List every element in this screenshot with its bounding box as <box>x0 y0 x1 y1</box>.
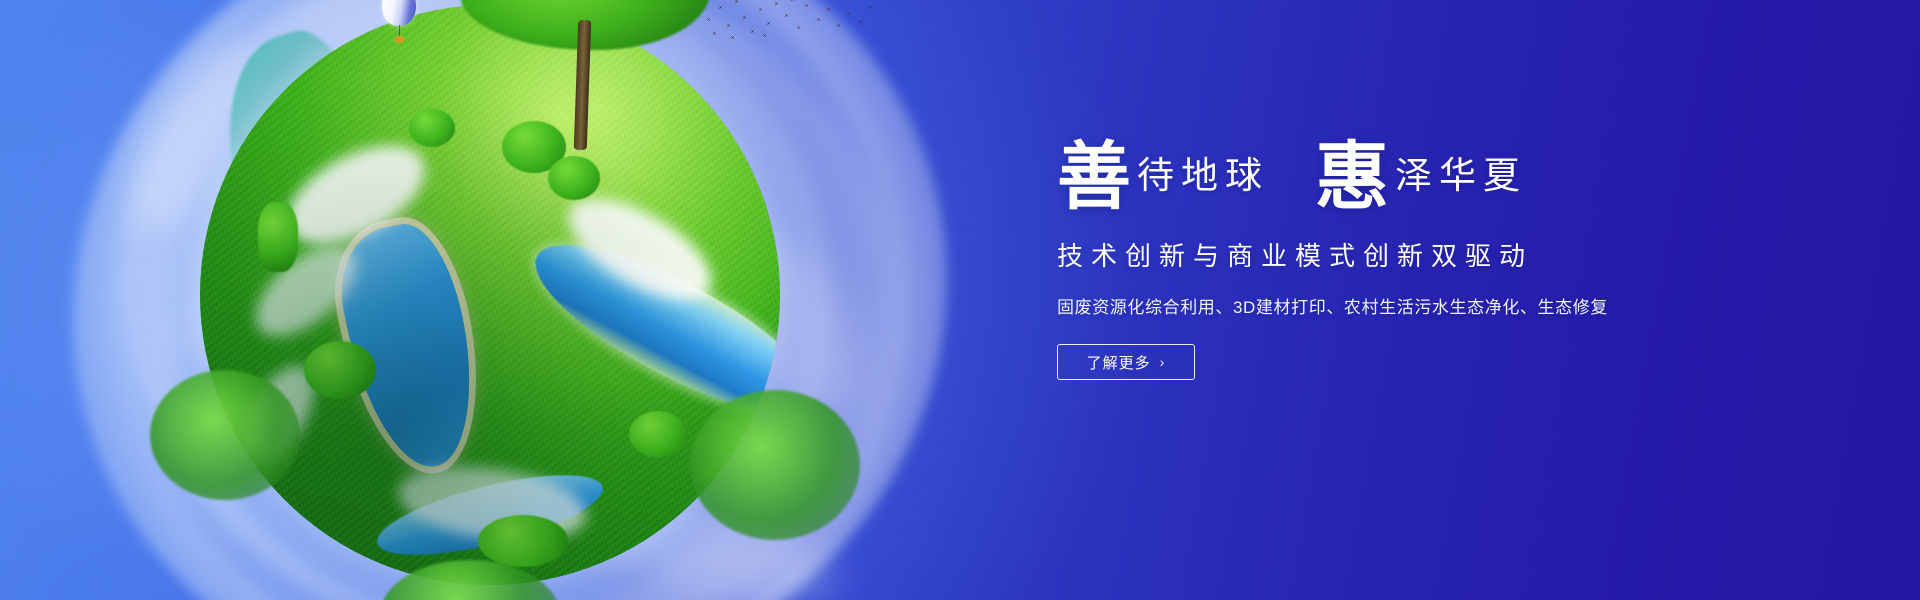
learn-more-button[interactable]: 了解更多 › <box>1057 344 1195 380</box>
subtitle: 技术创新与商业模式创新双驱动 <box>1057 236 1757 273</box>
side-tree <box>690 390 860 540</box>
description: 固废资源化综合利用、3D建材打印、农村生活污水生态净化、生态修复 <box>1057 293 1757 318</box>
tiny-planet-illustration <box>130 0 870 600</box>
bird-icon <box>726 24 731 27</box>
bird-icon <box>868 6 873 9</box>
bird-icon <box>774 2 779 5</box>
bird-icon <box>742 16 747 19</box>
bird-icon <box>846 12 851 15</box>
bird-icon <box>766 22 771 25</box>
balloon-basket <box>395 36 404 43</box>
headline-big-char-1: 善 <box>1057 134 1131 220</box>
hero-banner: 善待地球惠泽华夏 技术创新与商业模式创新双驱动 固废资源化综合利用、3D建材打印… <box>0 0 1920 600</box>
bird-icon <box>718 6 723 9</box>
bird-icon <box>790 0 795 1</box>
learn-more-label: 了解更多 <box>1087 352 1151 373</box>
bird-icon <box>858 20 863 23</box>
headline-small-text-2: 泽华夏 <box>1395 156 1527 197</box>
bird-icon <box>730 36 735 39</box>
bird-icon <box>826 8 831 11</box>
bird-icon <box>816 18 821 21</box>
bird-icon <box>734 0 739 3</box>
chevron-right-icon: › <box>1160 355 1166 369</box>
headline-small-text-1: 待地球 <box>1137 156 1269 197</box>
bird-icon <box>758 8 763 11</box>
hot-air-balloon-icon <box>382 0 416 48</box>
side-tree <box>150 370 300 500</box>
bird-icon <box>784 14 789 17</box>
bird-icon <box>762 34 767 37</box>
bird-icon <box>706 18 711 21</box>
foreground-tree <box>460 0 710 120</box>
bird-icon <box>750 30 755 33</box>
bird-icon <box>836 24 841 27</box>
hero-copy: 善待地球惠泽华夏 技术创新与商业模式创新双驱动 固废资源化综合利用、3D建材打印… <box>1057 140 1757 380</box>
balloon-envelope <box>382 0 416 26</box>
bird-icon <box>712 32 717 35</box>
bird-icon <box>796 26 801 29</box>
headline-big-char-2: 惠 <box>1315 134 1389 220</box>
bird-icon <box>804 4 809 7</box>
bird-flock <box>700 0 880 40</box>
headline: 善待地球惠泽华夏 <box>1057 140 1757 214</box>
